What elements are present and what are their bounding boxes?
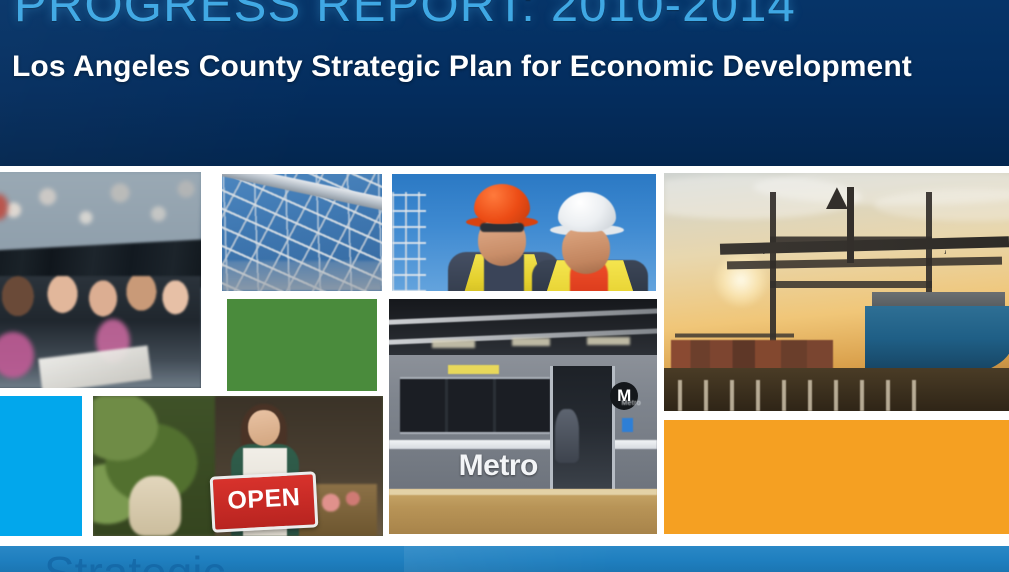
header-band: PROGRESS REPORT: 2010-2014 Los Angeles C…: [0, 0, 1009, 166]
image-collage: Metro M Metro OPEN: [0, 166, 1009, 546]
steel-foundation: [222, 261, 382, 291]
station-ceiling: [389, 299, 657, 355]
report-cover-page: PROGRESS REPORT: 2010-2014 Los Angeles C…: [0, 0, 1009, 572]
page-subtitle: Los Angeles County Strategic Plan for Ec…: [12, 48, 912, 86]
collage-tile-port-cranes-photo: [664, 173, 1009, 411]
train-door-sticker: [622, 418, 633, 432]
train-passenger: [555, 409, 579, 463]
destination-sign: [448, 365, 499, 374]
platform-edge-strip: [389, 489, 657, 495]
gantry-crane-mast: [847, 187, 854, 263]
collage-tile-orange-block: [664, 420, 1009, 534]
footer-partial-heading: Strategic: [44, 550, 226, 572]
worker-white-hard-hat: [558, 192, 616, 232]
ceiling-lamp: [512, 338, 550, 346]
cargo-ship-hull: [865, 306, 1009, 377]
worker-white-helmet-face: [562, 226, 610, 274]
station-platform: [389, 489, 657, 534]
collage-tile-construction-workers-photo: [392, 174, 656, 291]
footer-sheen: [404, 546, 707, 572]
worker-orange-hard-hat: [474, 184, 530, 224]
train-car-body: Metro M Metro: [389, 355, 657, 489]
shopkeeper-face: [248, 410, 280, 446]
open-sign: OPEN: [210, 471, 319, 532]
collage-tile-green-block: [227, 299, 377, 391]
ceiling-lamp: [587, 337, 630, 345]
metro-wordmark: Metro: [459, 449, 538, 483]
ceiling-lamp: [432, 340, 475, 348]
collage-tile-metro-train-photo: Metro M Metro: [389, 299, 657, 534]
dock-pilings: [678, 380, 931, 411]
collage-tile-steel-frame-photo: [222, 174, 382, 291]
worker-sunglasses: [480, 223, 524, 232]
page-title: PROGRESS REPORT: 2010-2014: [14, 0, 796, 33]
scaffold: [392, 192, 426, 291]
collage-tile-cyan-block: [0, 396, 82, 536]
ceiling-light-strip: [389, 307, 657, 325]
footer-band: Strategic: [0, 546, 1009, 572]
farm-stand-dog: [129, 476, 181, 536]
collage-tile-farm-stand-photo: OPEN: [93, 396, 383, 536]
collage-tile-graduation-photo: [0, 172, 201, 388]
train-stripe: [389, 440, 657, 449]
train-windows: [400, 377, 550, 435]
metro-logo-sublabel: Metro: [622, 400, 641, 407]
